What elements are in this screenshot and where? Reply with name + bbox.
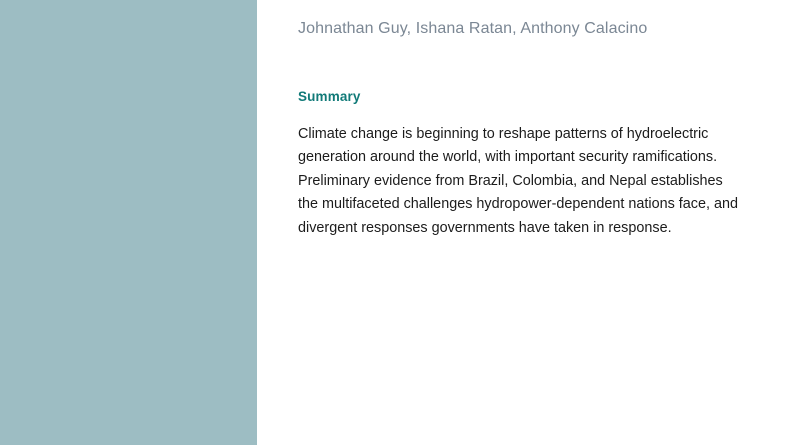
summary-paragraph: Climate change is beginning to reshape p…	[298, 123, 738, 240]
document-content-area: Johnathan Guy, Ishana Ratan, Anthony Cal…	[257, 0, 800, 445]
cover-image-panel	[0, 0, 257, 445]
document-page: Johnathan Guy, Ishana Ratan, Anthony Cal…	[0, 0, 800, 445]
summary-section-heading: Summary	[298, 89, 361, 104]
author-byline: Johnathan Guy, Ishana Ratan, Anthony Cal…	[298, 18, 748, 39]
